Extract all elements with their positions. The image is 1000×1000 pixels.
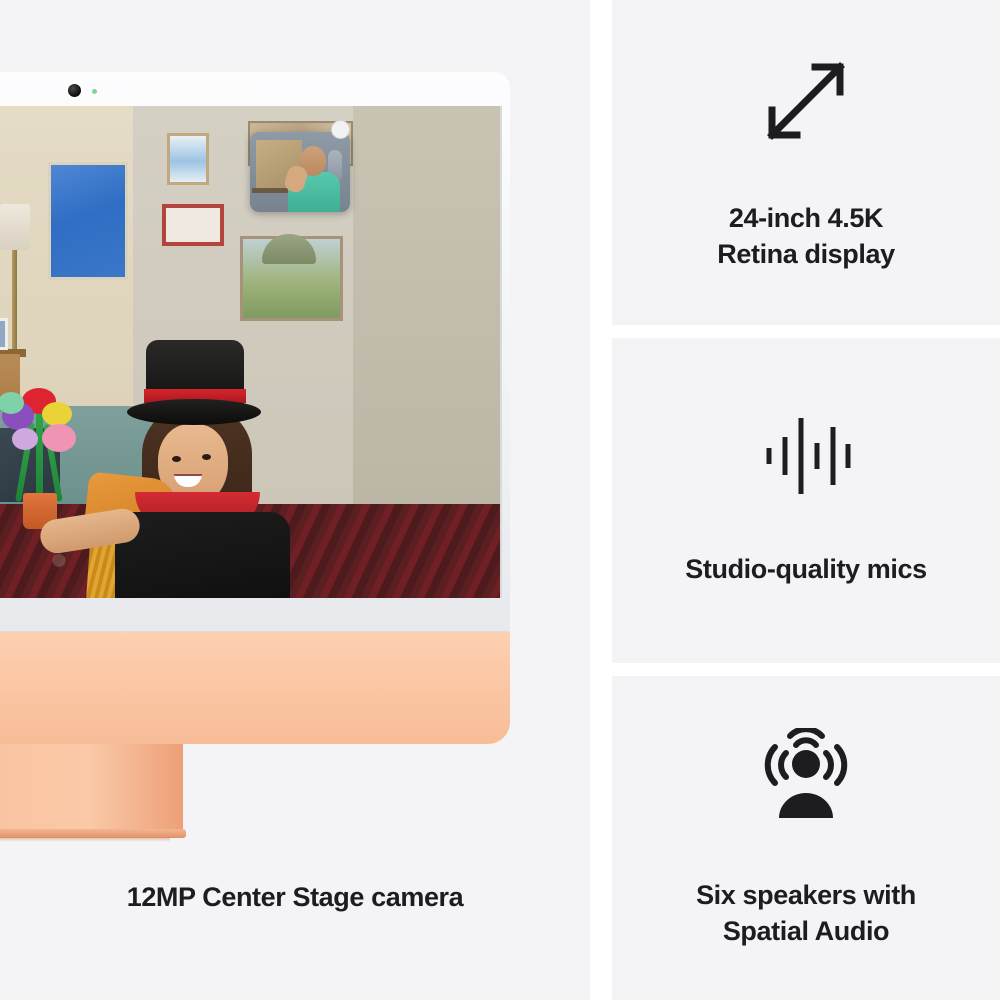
imac-bezel [0,72,510,632]
cape-body [115,512,290,598]
imac-screen [0,106,502,598]
camera-feature-panel: 12MP Center Stage camera [0,0,590,1000]
mics-feature-label: Studio-quality mics [665,551,946,587]
product-feature-grid: 12MP Center Stage camera 24-inch 4.5K Re… [0,0,1000,1000]
facetime-control-button[interactable] [331,120,350,139]
flower-pink [42,424,76,452]
top-hat-brim [127,399,261,425]
floor-lamp-shade [0,204,30,250]
camera-feature-caption: 12MP Center Stage camera [0,882,590,913]
flower-lilac [12,428,38,450]
camera-indicator-led-icon [92,89,97,94]
flower-stem [36,406,43,501]
flower-yellow [42,402,72,426]
desk-photo-frame [0,318,8,350]
diagonal-resize-arrows-icon [758,53,854,154]
imac-chin [0,632,510,744]
speakers-feature-panel: Six speakers with Spatial Audio [612,676,1000,1000]
girl-eye [202,454,211,460]
feature-list-column: 24-inch 4.5K Retina display Studio-quali… [612,0,1000,1000]
display-feature-panel: 24-inch 4.5K Retina display [612,0,1000,325]
display-feature-label: 24-inch 4.5K Retina display [697,200,914,272]
imac-device-illustration [0,72,510,832]
wall-art-red-frame [162,204,224,246]
wall-art-sky [167,133,209,185]
wall-art-large-blue [48,162,128,280]
speakers-feature-label: Six speakers with Spatial Audio [676,877,936,949]
imac-stand-neck [0,744,183,836]
audio-waveform-icon [758,414,854,503]
camera-lens-icon [68,84,81,97]
facetime-pip-window[interactable] [250,132,350,212]
mics-feature-panel: Studio-quality mics [612,338,1000,663]
video-call-scene [0,106,500,598]
person-spatial-audio-icon [754,728,858,831]
imac-stand-shadow [0,837,170,842]
girl-eye [172,456,181,462]
